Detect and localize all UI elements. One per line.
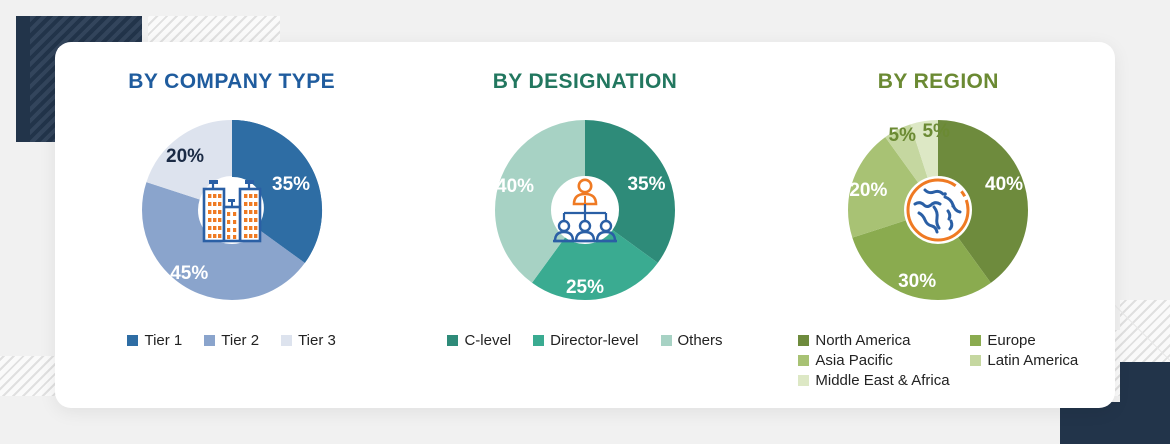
legend-label-middle-east-africa: Middle East & Africa: [815, 372, 949, 389]
infographic-card: BY COMPANY TYPE 35% 45% 20%: [55, 42, 1115, 408]
legend-item-c-level[interactable]: C-level: [447, 332, 511, 349]
legend-swatch-tier-2: [204, 335, 215, 346]
legend-label-asia-pacific: Asia Pacific: [815, 352, 893, 369]
legend-swatch-c-level: [447, 335, 458, 346]
legend-swatch-director-level: [533, 335, 544, 346]
legend-swatch-north-america: [798, 335, 809, 346]
legend-item-middle-east-africa[interactable]: Middle East & Africa: [798, 372, 966, 389]
panel-title-company-type: BY COMPANY TYPE: [128, 70, 335, 94]
legend-label-others: Others: [678, 332, 723, 349]
legend-swatch-europe: [970, 335, 981, 346]
legend-item-others[interactable]: Others: [661, 332, 723, 349]
legend-swatch-tier-3: [281, 335, 292, 346]
panel-by-company-type: BY COMPANY TYPE 35% 45% 20%: [55, 42, 408, 408]
legend-label-tier-2: Tier 2: [221, 332, 259, 349]
donut-chart-company-type: 35% 45% 20%: [126, 104, 338, 316]
legend-label-latin-america: Latin America: [987, 352, 1078, 369]
globe-icon: [895, 167, 981, 253]
legend-swatch-asia-pacific: [798, 355, 809, 366]
legend-designation: C-level Director-level Others: [447, 332, 722, 349]
legend-swatch-others: [661, 335, 672, 346]
donut-chart-designation: 35% 25% 40%: [479, 104, 691, 316]
legend-label-north-america: North America: [815, 332, 910, 349]
legend-item-latin-america[interactable]: Latin America: [970, 352, 1078, 369]
legend-item-director-level[interactable]: Director-level: [533, 332, 638, 349]
legend-company-type: Tier 1 Tier 2 Tier 3: [127, 332, 335, 349]
legend-swatch-middle-east-africa: [798, 375, 809, 386]
legend-item-asia-pacific[interactable]: Asia Pacific: [798, 352, 966, 369]
legend-region: North America Europe Asia Pacific Latin …: [798, 332, 1078, 389]
panel-by-region: BY REGION 40% 30% 20% 5% 5%: [762, 42, 1115, 408]
legend-item-europe[interactable]: Europe: [970, 332, 1078, 349]
legend-item-north-america[interactable]: North America: [798, 332, 966, 349]
legend-label-europe: Europe: [987, 332, 1035, 349]
legend-item-tier-3[interactable]: Tier 3: [281, 332, 336, 349]
legend-label-tier-1: Tier 1: [144, 332, 182, 349]
corner-bracket-bottom-right: [1060, 402, 1170, 444]
panel-by-designation: BY DESIGNATION 35% 25% 40%: [408, 42, 761, 408]
donut-chart-region: 40% 30% 20% 5% 5%: [832, 104, 1044, 316]
panel-title-region: BY REGION: [878, 70, 999, 94]
panel-title-designation: BY DESIGNATION: [493, 70, 678, 94]
legend-label-tier-3: Tier 3: [298, 332, 336, 349]
legend-item-tier-2[interactable]: Tier 2: [204, 332, 259, 349]
legend-swatch-tier-1: [127, 335, 138, 346]
legend-swatch-latin-america: [970, 355, 981, 366]
legend-label-director-level: Director-level: [550, 332, 638, 349]
legend-label-c-level: C-level: [464, 332, 511, 349]
legend-item-tier-1[interactable]: Tier 1: [127, 332, 182, 349]
org-chart-icon: [542, 167, 628, 253]
buildings-icon: [189, 167, 275, 253]
